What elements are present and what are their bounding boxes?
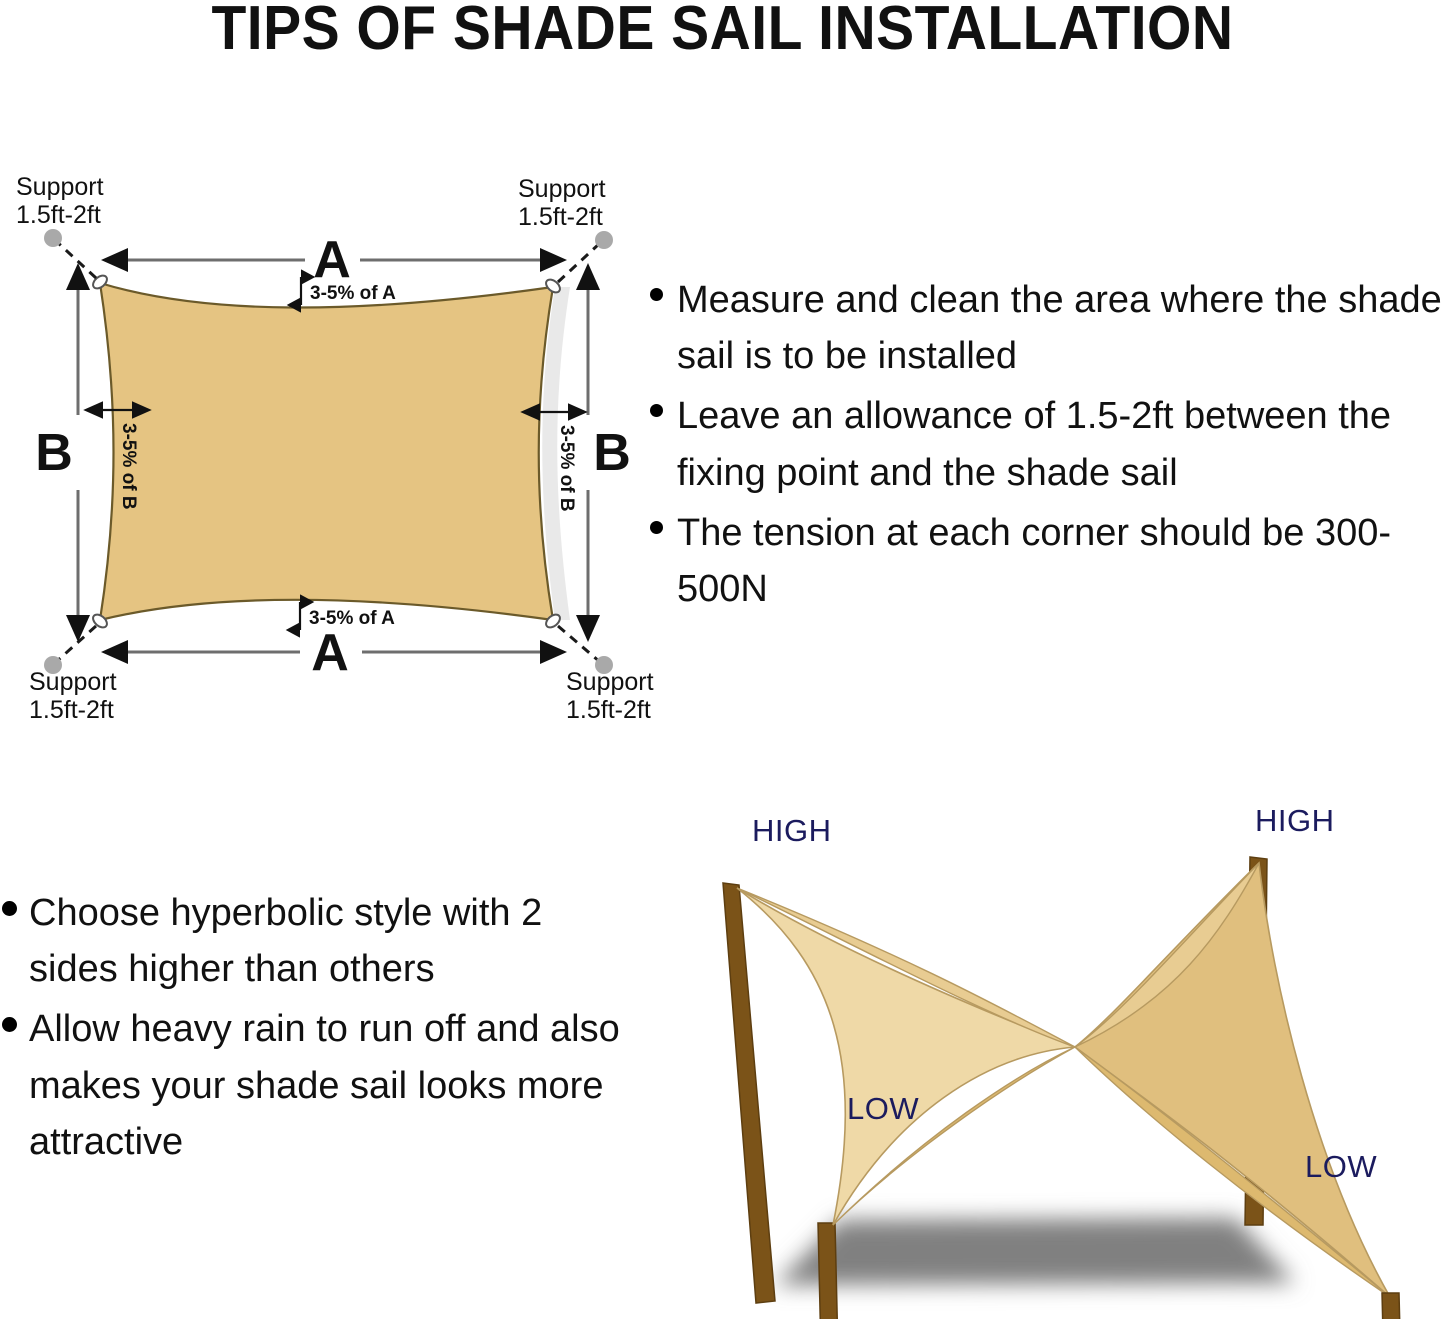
ground-shadow xyxy=(775,1218,1295,1285)
support-label-top-right-line2: 1.5ft-2ft xyxy=(518,203,603,231)
post-low-right xyxy=(1382,1293,1403,1319)
list-item: Allow heavy rain to run off and also mak… xyxy=(2,1001,627,1170)
list-item: The tension at each corner should be 300… xyxy=(650,505,1445,617)
support-dot-top-right xyxy=(595,231,613,249)
bullet-dot-icon xyxy=(650,521,663,534)
rectangular-sail-diagram: A A B B 3-5% of A 3-5% of A 3-5% of B 3-… xyxy=(0,165,660,735)
tie-line-bottom-left xyxy=(56,626,96,662)
support-label-top-left-line2: 1.5ft-2ft xyxy=(16,201,101,229)
bullet-dot-icon xyxy=(2,901,17,916)
support-label-bottom-left-line1: Support xyxy=(29,668,117,696)
post-label-low-left: LOW xyxy=(847,1091,919,1127)
post-high-left xyxy=(723,883,775,1303)
installation-tips-bottom-left-column: Choose hyperbolic style with 2 sides hig… xyxy=(2,885,627,1174)
list-item: Leave an allowance of 1.5-2ft between th… xyxy=(650,388,1445,500)
sail-body xyxy=(100,283,553,620)
tip-text: Measure and clean the area where the sha… xyxy=(677,272,1445,384)
list-item: Measure and clean the area where the sha… xyxy=(650,272,1445,384)
post-label-low-right: LOW xyxy=(1305,1149,1377,1185)
tip-text: Allow heavy rain to run off and also mak… xyxy=(29,1001,627,1170)
curvature-label-bottom: 3-5% of A xyxy=(309,608,395,629)
installation-tips-right-column: Measure and clean the area where the sha… xyxy=(650,272,1445,621)
page-title: TIPS OF SHADE SAIL INSTALLATION xyxy=(58,0,1387,61)
dim-label-a-bottom: A xyxy=(311,624,349,682)
tie-line-bottom-right xyxy=(558,626,600,662)
sail-surface-back-lobe xyxy=(737,888,1075,1225)
curvature-label-right: 3-5% of B xyxy=(556,425,577,512)
tie-line-top-left xyxy=(56,241,96,278)
curvature-label-top: 3-5% of A xyxy=(310,283,396,304)
list-item: Choose hyperbolic style with 2 sides hig… xyxy=(2,885,627,997)
support-label-bottom-right-line2: 1.5ft-2ft xyxy=(566,696,651,724)
bullet-dot-icon xyxy=(650,404,663,417)
support-dot-top-left xyxy=(44,229,62,247)
bullet-dot-icon xyxy=(2,1017,17,1032)
support-label-bottom-right-line1: Support xyxy=(566,668,654,696)
post-label-high-right: HIGH xyxy=(1255,803,1335,839)
support-label-top-right-line1: Support xyxy=(518,175,606,203)
support-label-top-left-line1: Support xyxy=(16,173,104,201)
dim-label-b-left: B xyxy=(35,424,73,482)
post-label-high-left: HIGH xyxy=(752,813,832,849)
support-label-bottom-left-line2: 1.5ft-2ft xyxy=(29,696,114,724)
post-low-left xyxy=(818,1223,839,1319)
bullet-dot-icon xyxy=(650,288,663,301)
tip-text: Leave an allowance of 1.5-2ft between th… xyxy=(677,388,1445,500)
curvature-label-left: 3-5% of B xyxy=(118,423,139,510)
hyperbolic-sail-illustration: HIGH HIGH LOW LOW xyxy=(655,785,1445,1319)
dim-label-a-top: A xyxy=(313,231,351,289)
tip-text: The tension at each corner should be 300… xyxy=(677,505,1445,617)
tie-line-top-right xyxy=(558,243,600,282)
dim-label-b-right: B xyxy=(593,424,631,482)
tip-text: Choose hyperbolic style with 2 sides hig… xyxy=(29,885,627,997)
